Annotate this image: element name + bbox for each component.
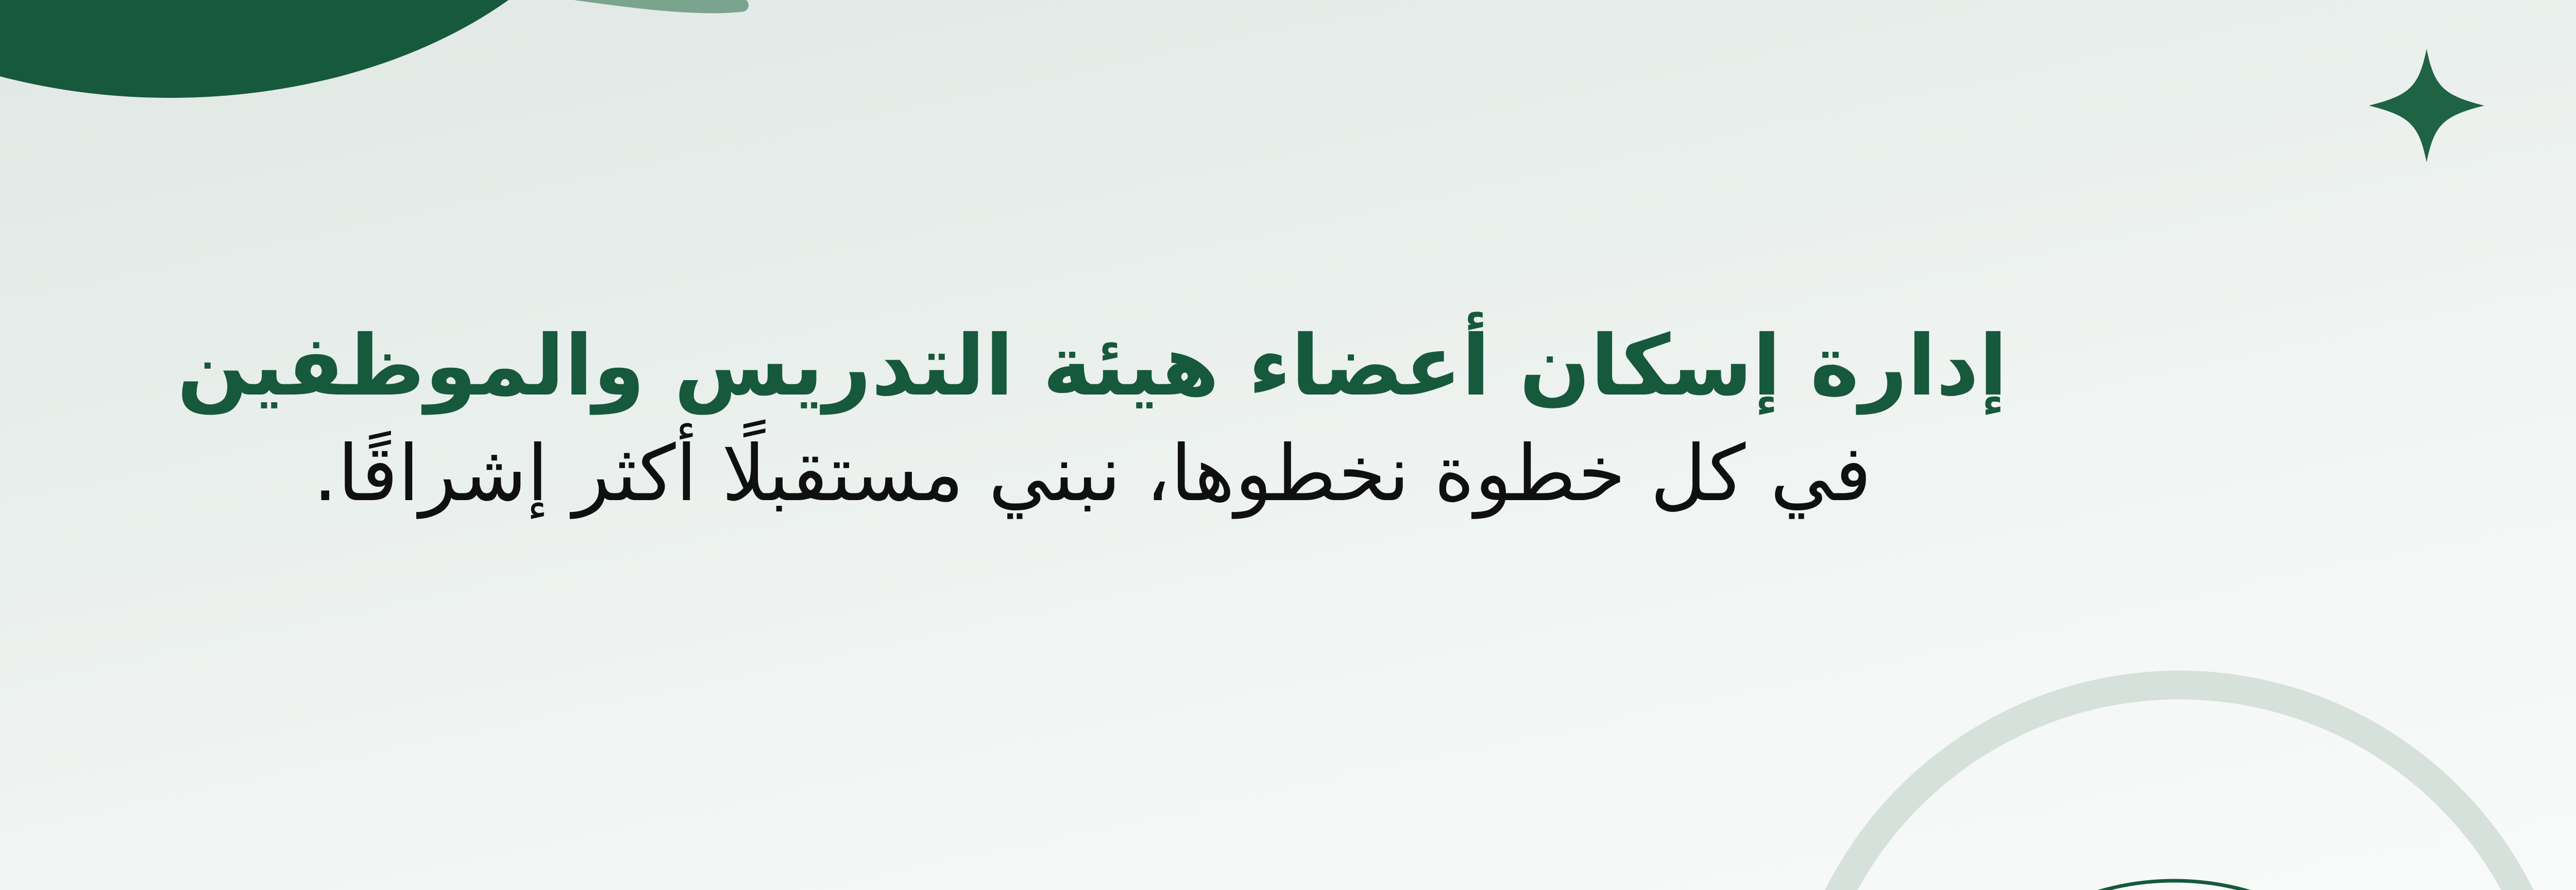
banner-text-block: إدارة إسكان أعضاء هيئة التدريس والموظفين… (0, 0, 2576, 890)
page-title: إدارة إسكان أعضاء هيئة التدريس والموظفين (177, 317, 2008, 416)
banner-subtitle: في كل خطوة نخطوها، نبني مستقبلًا أكثر إش… (313, 427, 1871, 520)
promotional-banner: إدارة إسكان أعضاء هيئة التدريس والموظفين… (0, 0, 2576, 890)
